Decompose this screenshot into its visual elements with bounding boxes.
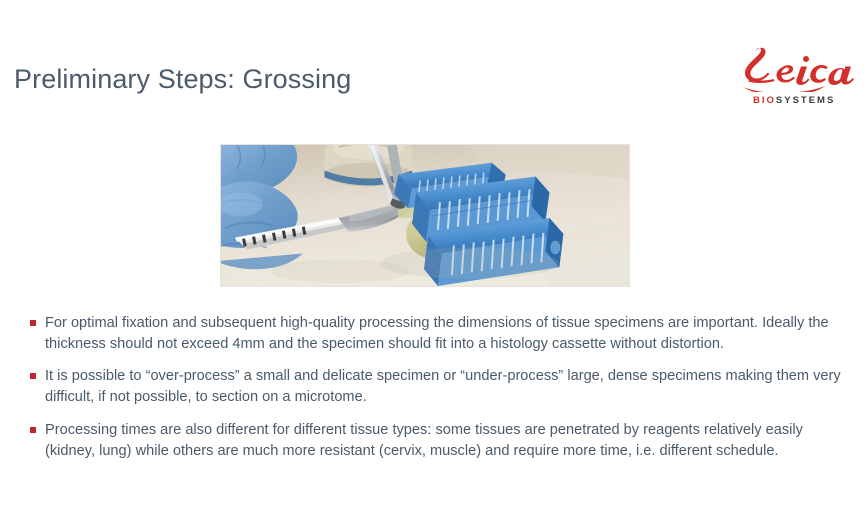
- logo-subtitle: BIOSYSTEMS: [753, 96, 835, 106]
- bullet-list: For optimal fixation and subsequent high…: [30, 313, 842, 473]
- list-item-text: It is possible to “over-process” a small…: [45, 366, 842, 408]
- grossing-photo-illustration: [221, 145, 629, 286]
- list-item-text: Processing times are also different for …: [45, 420, 842, 462]
- grossing-photo: [220, 144, 630, 287]
- leica-biosystems-logo: BIOSYSTEMS: [739, 44, 861, 116]
- list-item: For optimal fixation and subsequent high…: [30, 313, 842, 355]
- list-item: Processing times are also different for …: [30, 420, 842, 462]
- bullet-square-icon: [30, 320, 36, 326]
- logo-systems-text: SYSTEMS: [776, 95, 835, 106]
- list-item-text: For optimal fixation and subsequent high…: [45, 313, 842, 355]
- leica-wordmark-icon: [739, 44, 861, 92]
- bullet-square-icon: [30, 373, 36, 379]
- page-title: Preliminary Steps: Grossing: [14, 64, 351, 95]
- bullet-square-icon: [30, 427, 36, 433]
- logo-bio-text: BIO: [753, 95, 776, 106]
- list-item: It is possible to “over-process” a small…: [30, 366, 842, 408]
